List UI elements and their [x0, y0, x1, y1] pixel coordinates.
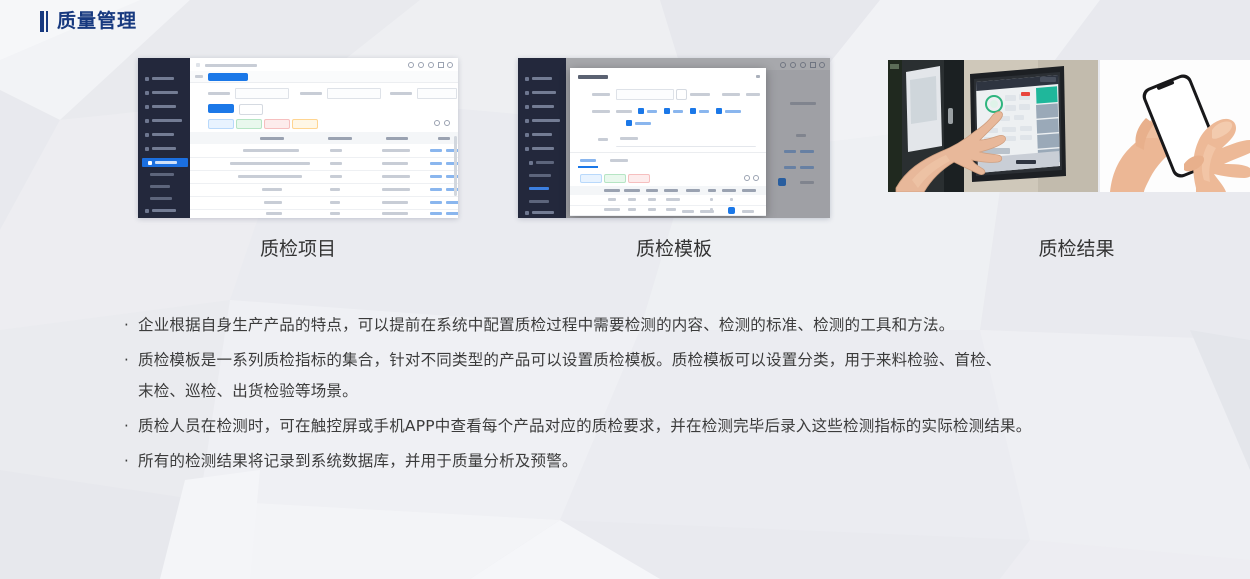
filter-label-3	[390, 92, 412, 95]
template-name-input[interactable]	[616, 89, 674, 100]
column-setting-icon[interactable]	[744, 175, 750, 181]
column-setting-icon[interactable]	[434, 120, 440, 126]
search-icon[interactable]	[408, 62, 414, 68]
pagination-total	[682, 210, 694, 213]
bullet-item: · 质检模板是一系列质检指标的集合，针对不同类型的产品可以设置质检模板。质检模板…	[124, 345, 1214, 407]
checkbox-3[interactable]	[690, 108, 696, 114]
table-row[interactable]	[190, 170, 458, 184]
bullet-marker: ·	[124, 411, 138, 442]
tab-active[interactable]	[208, 73, 248, 81]
checkbox-4[interactable]	[716, 108, 722, 114]
figure-quality-items: 质检项目	[138, 58, 458, 218]
photo-touchscreen-panel[interactable]	[888, 60, 1098, 192]
vertical-scrollbar[interactable]	[454, 136, 457, 196]
bullet-text: 企业根据自身生产产品的特点，可以提前在系统中配置质检过程中需要检测的内容、检测的…	[138, 310, 954, 341]
photo-phone-app[interactable]	[1100, 60, 1250, 192]
bullet-item: · 企业根据自身生产产品的特点，可以提前在系统中配置质检过程中需要检测的内容、检…	[124, 310, 1214, 341]
tab-indicators-label[interactable]	[580, 159, 596, 162]
density-icon[interactable]	[753, 175, 759, 181]
photo-phone-illustration	[1100, 60, 1250, 192]
filter-label-1	[208, 92, 230, 95]
erp-content-area	[566, 58, 830, 218]
add-indicator-button[interactable]	[580, 174, 602, 183]
help-icon[interactable]	[428, 62, 434, 68]
status-tag-all[interactable]	[208, 119, 234, 129]
user-icon[interactable]	[447, 62, 453, 68]
status-tag-fail[interactable]	[264, 119, 290, 129]
col-header-name	[260, 137, 284, 140]
table-row[interactable]	[190, 209, 458, 218]
erp-content-area	[190, 58, 458, 218]
bullet-marker: ·	[124, 345, 138, 376]
col-header-standard	[386, 137, 408, 140]
bullet-item: · 质检人员在检测时，可在触控屏或手机APP中查看每个产品对应的质检要求，并在检…	[124, 411, 1214, 442]
table-header	[190, 132, 458, 144]
filter-input-1[interactable]	[235, 88, 289, 99]
figure-caption: 质检结果	[888, 234, 1250, 261]
bullet-marker: ·	[124, 446, 138, 477]
page-title: 质量管理	[40, 10, 137, 32]
pagination-size[interactable]	[700, 210, 714, 213]
col-header-action	[438, 137, 450, 140]
pagination-page-1[interactable]	[728, 207, 735, 214]
filter-input-2[interactable]	[327, 88, 381, 99]
modal-table-row[interactable]	[570, 205, 766, 216]
bullet-marker: ·	[124, 310, 138, 341]
reset-button[interactable]	[239, 104, 263, 115]
table-row[interactable]	[190, 144, 458, 158]
status-tag-pass[interactable]	[236, 119, 262, 129]
modal-title	[578, 75, 608, 79]
delete-button[interactable]	[628, 174, 650, 183]
density-icon[interactable]	[444, 120, 450, 126]
photo-touchscreen-illustration	[888, 60, 1098, 192]
figure-row: 质检项目	[0, 0, 1250, 260]
erp-sidebar[interactable]	[518, 58, 566, 218]
bullet-text: 质检人员在检测时，可在触控屏或手机APP中查看每个产品对应的质检要求，并在检测完…	[138, 411, 1031, 442]
table-row[interactable]	[190, 157, 458, 171]
figure-caption: 质检项目	[138, 234, 458, 261]
search-button[interactable]	[208, 104, 234, 113]
figure-caption: 质检模板	[518, 234, 830, 261]
bullet-list: · 企业根据自身生产产品的特点，可以提前在系统中配置质检过程中需要检测的内容、检…	[124, 310, 1214, 481]
tab-active-underline	[578, 166, 598, 168]
tab-home-label[interactable]	[195, 75, 203, 78]
table-row[interactable]	[190, 183, 458, 197]
checkbox-5[interactable]	[626, 120, 632, 126]
bullet-text: 所有的检测结果将记录到系统数据库，并用于质量分析及预警。	[138, 446, 578, 477]
tab-history-label[interactable]	[610, 159, 628, 162]
import-button[interactable]	[604, 174, 626, 183]
refresh-icon[interactable]	[418, 62, 424, 68]
modal-close-icon[interactable]	[756, 75, 760, 78]
screenshot-quality-item-list[interactable]	[138, 58, 458, 218]
breadcrumb-text	[205, 64, 257, 67]
erp-sidebar[interactable]	[138, 58, 190, 218]
fullscreen-icon[interactable]	[438, 62, 444, 68]
status-tag-warn[interactable]	[292, 119, 318, 129]
filter-label-2	[300, 92, 322, 95]
menu-toggle-icon[interactable]	[196, 63, 200, 67]
bullet-item: · 所有的检测结果将记录到系统数据库，并用于质量分析及预警。	[124, 446, 1214, 477]
checkbox-2[interactable]	[664, 108, 670, 114]
checkbox-1[interactable]	[638, 108, 644, 114]
page-title-text: 质量管理	[57, 11, 137, 32]
filter-input-3[interactable]	[417, 88, 457, 99]
quality-template-modal[interactable]	[570, 68, 766, 216]
table-row[interactable]	[190, 196, 458, 210]
bullet-text: 质检模板是一系列质检指标的集合，针对不同类型的产品可以设置质检模板。质检模板可以…	[138, 345, 1002, 376]
col-header-type	[328, 137, 352, 140]
select-product-button[interactable]	[676, 89, 687, 100]
pagination-jump[interactable]	[742, 210, 754, 213]
bullet-text-continued: 末检、巡检、出货检验等场景。	[138, 376, 1002, 407]
screenshot-quality-template-modal[interactable]	[518, 58, 830, 218]
title-accent-bar	[40, 10, 48, 32]
figure-quality-template: 质检模板	[518, 58, 830, 218]
